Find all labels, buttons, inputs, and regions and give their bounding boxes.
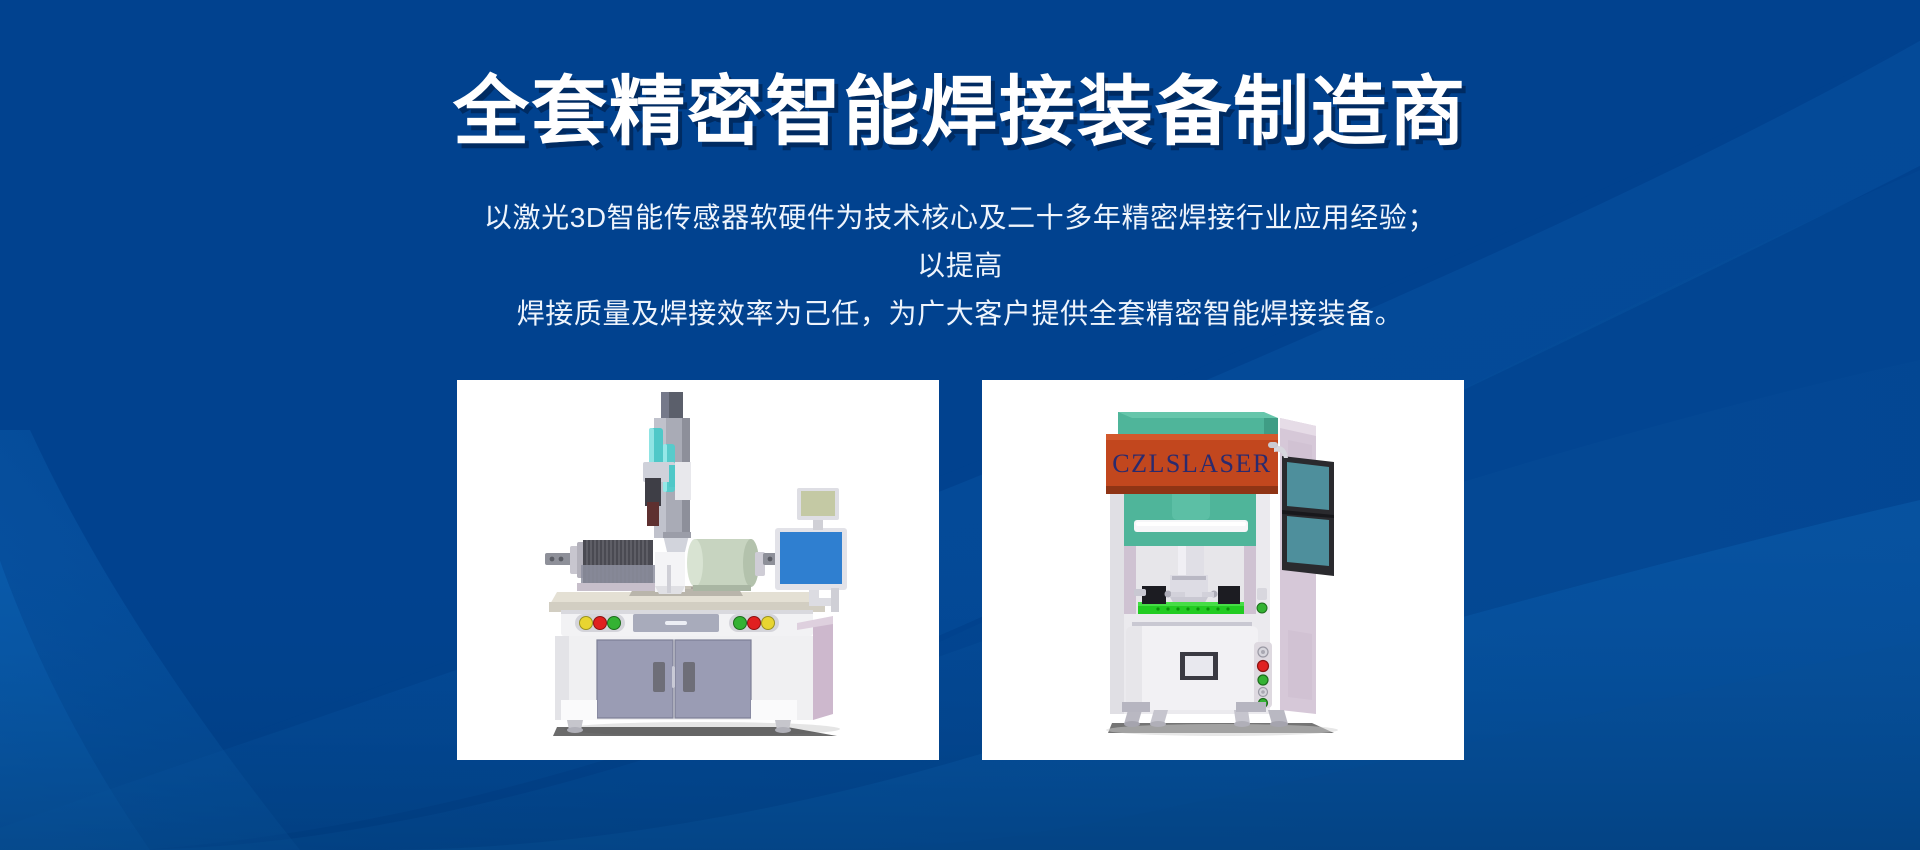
product-card-machine-right[interactable]: CZLSLASER <box>982 380 1464 760</box>
machine-right-illustration: CZLSLASER <box>982 380 1464 760</box>
hero-subtitle-line-1: 以激光3D智能传感器软硬件为技术核心及二十多年精密焊接行业应用经验；以提高 <box>480 194 1440 290</box>
product-card-machine-left[interactable] <box>457 380 939 760</box>
hero-subtitle-line-2: 焊接质量及焊接效率为己任，为广大客户提供全套精密智能焊接装备。 <box>480 290 1440 338</box>
product-image-gallery: CZLSLASER <box>457 380 1464 760</box>
hero-subtitle: 以激光3D智能传感器软硬件为技术核心及二十多年精密焊接行业应用经验；以提高 焊接… <box>480 194 1440 338</box>
brand-label: CZLSLASER <box>1112 449 1271 478</box>
hero-banner: 全套精密智能焊接装备制造商 以激光3D智能传感器软硬件为技术核心及二十多年精密焊… <box>0 0 1920 850</box>
page-title: 全套精密智能焊接装备制造商 <box>453 68 1467 158</box>
machine-left-illustration <box>457 380 939 760</box>
